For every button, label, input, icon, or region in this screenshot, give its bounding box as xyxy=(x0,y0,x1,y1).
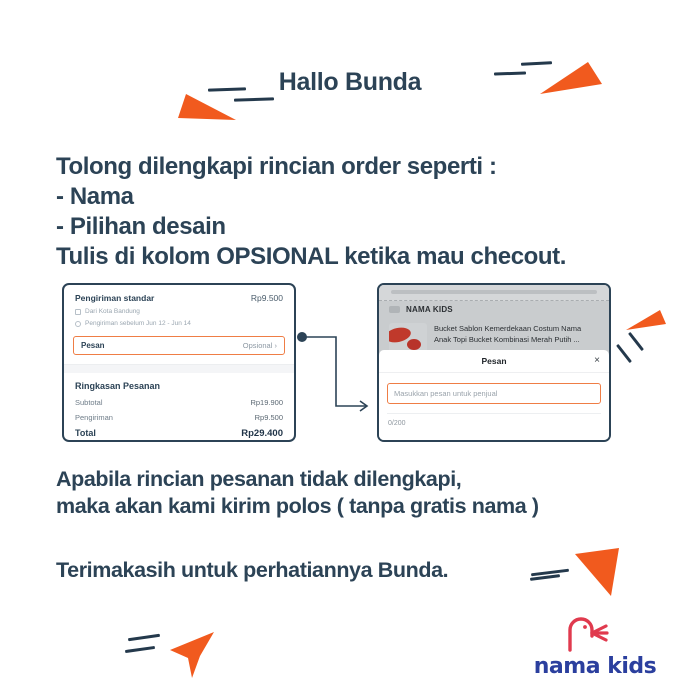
shipping-eta-label: Pengiriman sebelum Jun 12 - Jun 14 xyxy=(85,320,191,327)
paper-plane-shape xyxy=(166,632,214,678)
store-name-label: NAMA KIDS xyxy=(406,305,453,314)
instruction-line: Tulis di kolom OPSIONAL ketika mau checo… xyxy=(56,242,656,272)
shipping-origin-label: Dari Kota Bandung xyxy=(85,308,140,315)
section-divider xyxy=(64,364,294,373)
store-icon xyxy=(389,306,400,313)
decor-line-bottom-a xyxy=(128,634,160,641)
app-screenshot-card: NAMA KIDS Bucket Sablon Kemerdekaan Cost… xyxy=(377,283,611,442)
app-topbar-placeholder xyxy=(391,290,597,294)
chevron-right-icon: › xyxy=(275,341,278,350)
summary-value: Rp9.500 xyxy=(255,413,283,422)
modal-divider xyxy=(387,413,601,414)
store-row[interactable]: NAMA KIDS xyxy=(389,305,453,314)
decor-triangle-thanks xyxy=(575,548,621,601)
poster-canvas: Hallo Bunda Tolong dilengkapi rincian or… xyxy=(0,0,700,700)
summary-row-shipping: Pengiriman Rp9.500 xyxy=(75,413,283,422)
instruction-block: Tolong dilengkapi rincian order seperti … xyxy=(56,152,656,272)
shipping-eta-row: Pengiriman sebelum Jun 12 - Jun 14 xyxy=(75,320,283,327)
modal-title: Pesan xyxy=(481,356,506,366)
message-input[interactable]: Masukkan pesan untuk penjual xyxy=(387,383,601,404)
triangle-shape xyxy=(575,548,621,596)
message-modal: Pesan × Masukkan pesan untuk penjual 0/2… xyxy=(379,350,609,440)
shipping-origin-row: Dari Kota Bandung xyxy=(75,308,283,315)
checkout-summary-card: Pengiriman standar Rp9.500 Dari Kota Ban… xyxy=(62,283,296,442)
product-thumbnail xyxy=(389,323,427,353)
shipping-method-label: Pengiriman standar xyxy=(75,293,154,303)
close-icon[interactable]: × xyxy=(594,356,600,366)
message-row-value: Opsional › xyxy=(243,341,277,350)
message-row-label: Pesan xyxy=(81,341,105,350)
bird-icon xyxy=(530,612,660,656)
product-row[interactable]: Bucket Sablon Kemerdekaan Costum Nama An… xyxy=(389,323,599,353)
app-top-bar xyxy=(379,285,609,301)
footer-note-line: Apabila rincian pesanan tidak dilengkapi… xyxy=(56,466,666,493)
footer-note-block: Apabila rincian pesanan tidak dilengkapi… xyxy=(56,466,666,520)
decor-line-mid-right-b xyxy=(616,344,632,363)
shipping-section: Pengiriman standar Rp9.500 Dari Kota Ban… xyxy=(64,285,294,327)
decor-paperplane-bottom-left xyxy=(166,632,214,683)
location-icon xyxy=(75,309,81,315)
decor-triangle-mid-right xyxy=(626,310,666,337)
order-summary-title: Ringkasan Pesanan xyxy=(75,381,283,391)
summary-total-value: Rp29.400 xyxy=(241,428,283,439)
thanks-line: Terimakasih untuk perhatiannya Bunda. xyxy=(56,558,448,583)
triangle-shape xyxy=(626,310,666,332)
summary-value: Rp19.900 xyxy=(250,398,283,407)
instruction-line: - Nama xyxy=(56,182,656,212)
summary-label: Pengiriman xyxy=(75,413,113,422)
order-summary-section: Ringkasan Pesanan Subtotal Rp19.900 Peng… xyxy=(64,373,294,439)
summary-row-subtotal: Subtotal Rp19.900 xyxy=(75,398,283,407)
shipping-header-row: Pengiriman standar Rp9.500 xyxy=(75,293,283,303)
summary-total-label: Total xyxy=(75,428,96,439)
shipping-price-value: Rp9.500 xyxy=(251,293,283,303)
footer-note-line: maka akan kami kirim polos ( tanpa grati… xyxy=(56,493,666,520)
connector-arrow xyxy=(296,330,374,414)
instruction-line: Tolong dilengkapi rincian order seperti … xyxy=(56,152,656,182)
product-title-label: Bucket Sablon Kemerdekaan Costum Nama An… xyxy=(434,323,599,353)
page-title: Hallo Bunda xyxy=(0,68,700,97)
message-row[interactable]: Pesan Opsional › xyxy=(73,336,285,355)
modal-header: Pesan × xyxy=(379,350,609,373)
instruction-line: - Pilihan desain xyxy=(56,212,656,242)
decor-line-bottom-b xyxy=(125,646,155,653)
brand-logo: nama kids xyxy=(530,612,660,684)
clock-icon xyxy=(75,321,81,327)
brand-name-label: nama kids xyxy=(530,654,660,679)
product-image-shape xyxy=(407,339,421,350)
connector-shape xyxy=(296,330,374,414)
summary-row-total: Total Rp29.400 xyxy=(75,428,283,439)
decor-line-top-left-b xyxy=(234,97,274,101)
char-counter: 0/200 xyxy=(388,420,609,427)
summary-label: Subtotal xyxy=(75,398,103,407)
